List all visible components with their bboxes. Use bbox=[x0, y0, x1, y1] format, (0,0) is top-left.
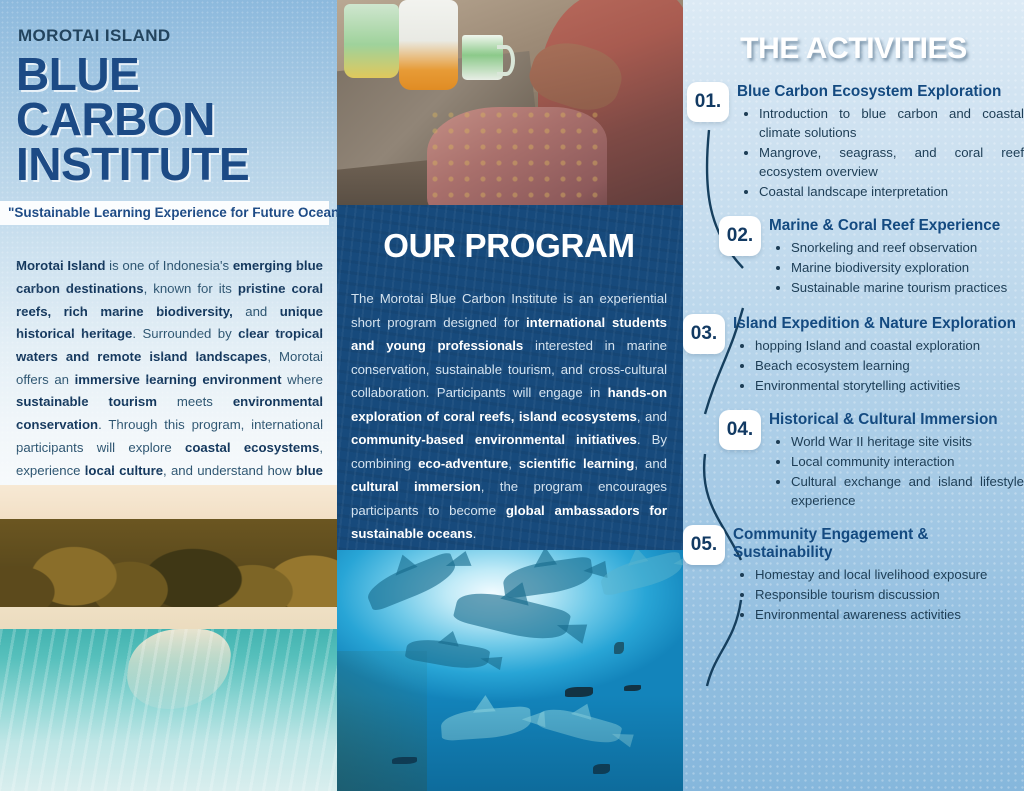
activity-heading: Marine & Coral Reef Experience bbox=[769, 217, 1024, 235]
tagline-band: "Sustainable Learning Experience for Fut… bbox=[0, 201, 329, 225]
left-column: MOROTAI ISLAND BLUE CARBON INSTITUTE "Su… bbox=[0, 0, 337, 791]
list-item: Snorkeling and reef observation bbox=[791, 238, 1024, 257]
activity-content: Community Engagement & Sustainability Ho… bbox=[725, 525, 1024, 625]
activity-bullet-list: Snorkeling and reef observation Marine b… bbox=[769, 238, 1024, 297]
list-item: hopping Island and coastal exploration bbox=[755, 336, 1024, 355]
activity-heading: Historical & Cultural Immersion bbox=[769, 411, 1024, 429]
list-item: Introduction to blue carbon and coastal … bbox=[759, 104, 1024, 142]
activity-number-badge: 01. bbox=[687, 82, 729, 122]
list-item: Coastal landscape interpretation bbox=[759, 182, 1024, 201]
page-title: BLUE CARBON INSTITUTE bbox=[16, 52, 323, 187]
activity-heading: Community Engagement & Sustainability bbox=[733, 526, 1024, 561]
brand-line-2: INSTITUTE bbox=[16, 142, 323, 187]
photo-ripples bbox=[0, 629, 337, 791]
program-title: OUR PROGRAM bbox=[351, 227, 667, 265]
activity-bullet-list: Homestay and local livelihood exposure R… bbox=[733, 565, 1024, 624]
activity-number-badge: 03. bbox=[683, 314, 725, 354]
activity-item[interactable]: 05. Community Engagement & Sustainabilit… bbox=[683, 525, 1024, 625]
list-item: Environmental storytelling activities bbox=[755, 376, 1024, 395]
tagline-text: "Sustainable Learning Experience for Fut… bbox=[8, 205, 321, 220]
kicker-label: MOROTAI ISLAND bbox=[18, 26, 323, 46]
activity-content: Island Expedition & Nature Exploration h… bbox=[725, 314, 1024, 396]
local-culture-photo bbox=[337, 0, 683, 205]
activity-content: Blue Carbon Ecosystem Exploration Introd… bbox=[729, 82, 1024, 202]
activity-item[interactable]: 02. Marine & Coral Reef Experience Snork… bbox=[719, 216, 1024, 298]
program-panel: OUR PROGRAM The Morotai Blue Carbon Inst… bbox=[337, 205, 683, 550]
activity-number-badge: 05. bbox=[683, 525, 725, 565]
list-item: Mangrove, seagrass, and coral reef ecosy… bbox=[759, 143, 1024, 181]
brochure-page: MOROTAI ISLAND BLUE CARBON INSTITUTE "Su… bbox=[0, 0, 1024, 791]
activity-item[interactable]: 04. Historical & Cultural Immersion Worl… bbox=[719, 410, 1024, 511]
activity-number-badge: 02. bbox=[719, 216, 761, 256]
list-item: Homestay and local livelihood exposure bbox=[755, 565, 1024, 584]
list-item: Beach ecosystem learning bbox=[755, 356, 1024, 375]
right-column: THE ACTIVITIES 01. Blue Carbon Ecosystem… bbox=[683, 0, 1024, 791]
fish-shape bbox=[624, 685, 641, 691]
list-item: Responsible tourism discussion bbox=[755, 585, 1024, 604]
activity-bullet-list: World War II heritage site visits Local … bbox=[769, 432, 1024, 511]
activities-timeline: 01. Blue Carbon Ecosystem Exploration In… bbox=[683, 82, 1024, 625]
photo-depth-shade bbox=[337, 695, 683, 791]
list-item: Environmental awareness activities bbox=[755, 605, 1024, 624]
photo-jug-orange bbox=[399, 0, 458, 90]
shark-shape bbox=[598, 550, 683, 596]
shark-shape bbox=[501, 556, 594, 600]
list-item: Sustainable marine tourism practices bbox=[791, 278, 1024, 297]
program-paragraph: The Morotai Blue Carbon Institute is an … bbox=[351, 287, 667, 546]
activity-content: Historical & Cultural Immersion World Wa… bbox=[761, 410, 1024, 511]
list-item: Local community interaction bbox=[791, 452, 1024, 471]
shark-shape bbox=[363, 550, 460, 612]
activity-bullet-list: hopping Island and coastal exploration B… bbox=[733, 336, 1024, 395]
island-beach-photo bbox=[0, 485, 337, 791]
photo-jug-green bbox=[344, 4, 399, 78]
list-item: Marine biodiversity exploration bbox=[791, 258, 1024, 277]
activity-item[interactable]: 01. Blue Carbon Ecosystem Exploration In… bbox=[687, 82, 1024, 202]
list-item: World War II heritage site visits bbox=[791, 432, 1024, 451]
photo-skirt bbox=[427, 107, 607, 205]
activity-item[interactable]: 03. Island Expedition & Nature Explorati… bbox=[683, 314, 1024, 396]
activity-number-badge: 04. bbox=[719, 410, 761, 450]
underwater-sharks-photo bbox=[337, 550, 683, 791]
activities-title: THE ACTIVITIES bbox=[683, 32, 1024, 66]
activity-heading: Island Expedition & Nature Exploration bbox=[733, 315, 1024, 333]
brand-line-1: BLUE CARBON bbox=[16, 48, 215, 145]
left-header-block: MOROTAI ISLAND BLUE CARBON INSTITUTE bbox=[0, 0, 337, 187]
activity-heading: Blue Carbon Ecosystem Exploration bbox=[737, 83, 1024, 101]
list-item: Cultural exchange and island lifestyle e… bbox=[791, 472, 1024, 510]
middle-column: OUR PROGRAM The Morotai Blue Carbon Inst… bbox=[337, 0, 683, 791]
fish-shape bbox=[614, 642, 624, 654]
photo-cup bbox=[462, 35, 504, 80]
activity-bullet-list: Introduction to blue carbon and coastal … bbox=[737, 104, 1024, 202]
activity-content: Marine & Coral Reef Experience Snorkelin… bbox=[761, 216, 1024, 298]
